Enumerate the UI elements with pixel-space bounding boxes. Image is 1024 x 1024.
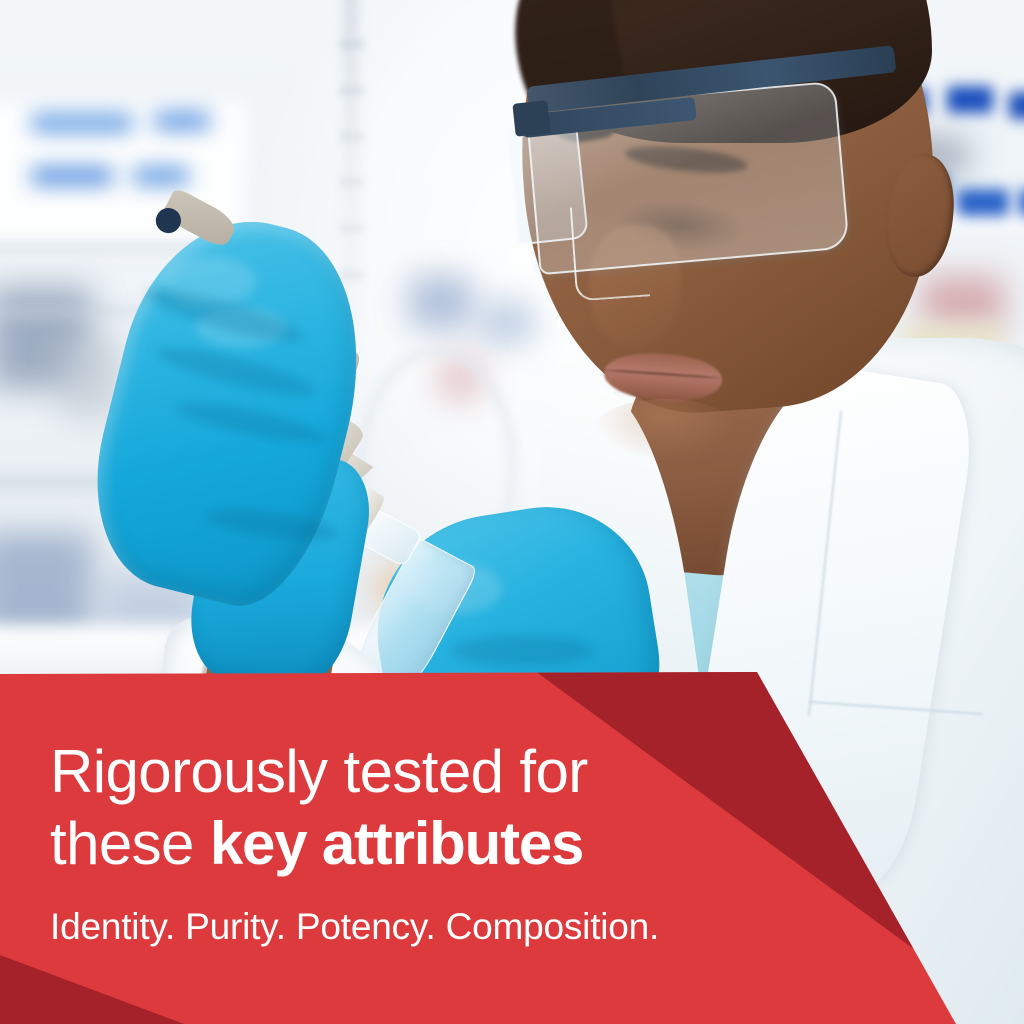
safety-goggles-bridge (570, 202, 650, 301)
banner-image: Rigorously tested for these key attribut… (0, 0, 1024, 1024)
glove-fold-r2 (461, 686, 594, 717)
safety-goggles-hinge (512, 101, 550, 137)
headline-line-2-bold: key attributes (210, 810, 583, 877)
chin-highlight (594, 399, 737, 460)
glove-fold-r1 (451, 635, 594, 666)
banner-copy: Rigorously tested for these key attribut… (50, 736, 770, 950)
subline: Identity. Purity. Potency. Composition. (50, 904, 770, 950)
headline-line-2-light: these (50, 810, 210, 877)
headline-line-2: these key attributes (50, 808, 770, 880)
headline-line-1: Rigorously tested for (50, 736, 770, 808)
